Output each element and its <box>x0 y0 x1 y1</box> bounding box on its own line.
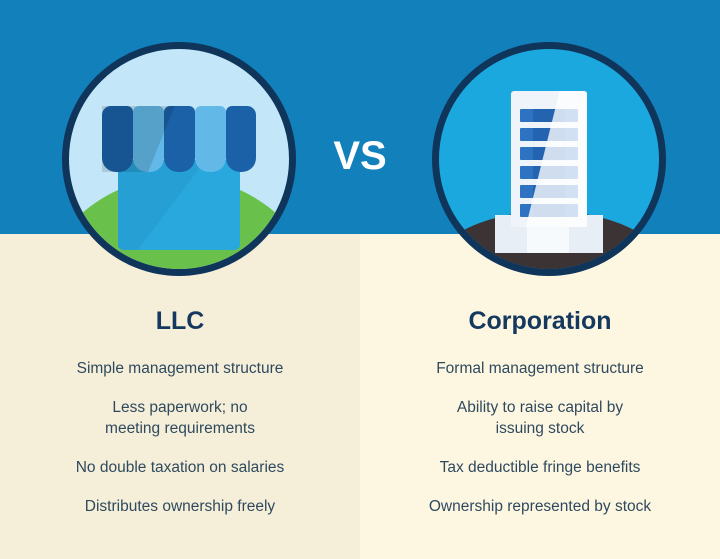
corporation-title: Corporation <box>384 306 696 336</box>
llc-points-list: Simple management structure Less paperwo… <box>24 358 336 517</box>
corporation-point: Tax deductible fringe benefits <box>384 457 696 478</box>
window-row <box>520 185 578 198</box>
versus-label: VS <box>310 131 410 181</box>
building-tower <box>511 91 587 227</box>
awning-stripe <box>102 106 133 172</box>
awning-stripe <box>133 106 164 172</box>
awning-stripe <box>226 106 256 172</box>
corporation-point: Ownership represented by stock <box>384 496 696 517</box>
corporation-point: Formal management structure <box>384 358 696 379</box>
llc-point-line: Less paperwork; no <box>112 399 247 416</box>
awning-stripe <box>164 106 195 172</box>
window-row <box>520 128 578 141</box>
office-building-icon <box>495 91 603 253</box>
corporation-point-line: Ability to raise capital by <box>457 399 623 416</box>
window-row <box>520 166 578 179</box>
llc-point: Simple management structure <box>24 358 336 379</box>
llc-vs-corporation-infographic: VS LLC Simple management structure Les <box>0 0 720 559</box>
llc-point: No double taxation on salaries <box>24 457 336 478</box>
awning-stripe <box>195 106 226 172</box>
corporation-points-list: Formal management structure Ability to r… <box>384 358 696 517</box>
llc-column: LLC Simple management structure Less pap… <box>0 234 360 559</box>
storefront-awning <box>102 106 256 172</box>
corporation-point-line: issuing stock <box>496 420 585 437</box>
window-row <box>520 204 578 217</box>
window-row <box>520 109 578 122</box>
corporation-point: Ability to raise capital by issuing stoc… <box>384 397 696 439</box>
llc-title: LLC <box>24 306 336 336</box>
llc-point: Distributes ownership freely <box>24 496 336 517</box>
corporation-column: Corporation Formal management structure … <box>360 234 720 559</box>
llc-point: Less paperwork; no meeting requirements <box>24 397 336 439</box>
llc-point-line: meeting requirements <box>105 420 255 437</box>
window-row <box>520 147 578 160</box>
storefront-icon <box>102 106 256 252</box>
